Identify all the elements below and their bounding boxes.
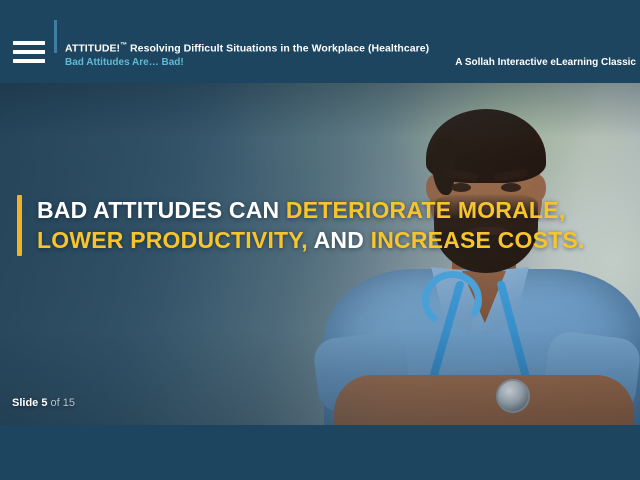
course-title-brand: ATTITUDE!	[65, 42, 120, 54]
menu-bar-bottom	[13, 59, 45, 63]
player-footer	[0, 425, 640, 480]
course-title: ATTITUDE!™ Resolving Difficult Situation…	[65, 42, 429, 55]
header-title-block: ATTITUDE!™ Resolving Difficult Situation…	[65, 42, 429, 69]
headline-accent-bar	[17, 195, 22, 256]
lesson-title: Bad Attitudes Are… Bad!	[65, 58, 429, 69]
headline-line-2: LOWER PRODUCTIVITY, AND INCREASE COSTS.	[37, 225, 585, 255]
headline-text-plain-1: BAD ATTITUDES CAN	[37, 197, 286, 223]
headline-text-highlight-2a: LOWER PRODUCTIVITY,	[37, 227, 308, 253]
hamburger-menu-icon[interactable]	[6, 35, 52, 69]
headline-text-highlight-1: DETERIORATE MORALE,	[286, 197, 565, 223]
headline-line-1: BAD ATTITUDES CAN DETERIORATE MORALE,	[37, 195, 585, 225]
slide-headline-block: BAD ATTITUDES CAN DETERIORATE MORALE, LO…	[0, 195, 470, 256]
headline-text-plain-2: AND	[308, 227, 371, 253]
slide-headline: BAD ATTITUDES CAN DETERIORATE MORALE, LO…	[37, 195, 585, 256]
slide-counter-total: of 15	[47, 397, 75, 409]
slide-counter-current: Slide 5	[12, 397, 47, 409]
brand-tagline: A Sollah Interactive eLearning Classic	[455, 57, 636, 69]
slide-stage[interactable]: BAD ATTITUDES CAN DETERIORATE MORALE, LO…	[0, 83, 640, 425]
course-title-subject: Resolving Difficult Situations in the Wo…	[127, 42, 429, 54]
player-header: ATTITUDE!™ Resolving Difficult Situation…	[0, 0, 640, 83]
menu-bar-top	[13, 41, 45, 45]
slide-counter: Slide 5 of 15	[12, 397, 75, 409]
menu-bar-middle	[13, 50, 45, 54]
header-divider	[54, 20, 57, 53]
elearning-player: ATTITUDE!™ Resolving Difficult Situation…	[0, 0, 640, 480]
headline-text-highlight-2b: INCREASE COSTS.	[371, 227, 585, 253]
